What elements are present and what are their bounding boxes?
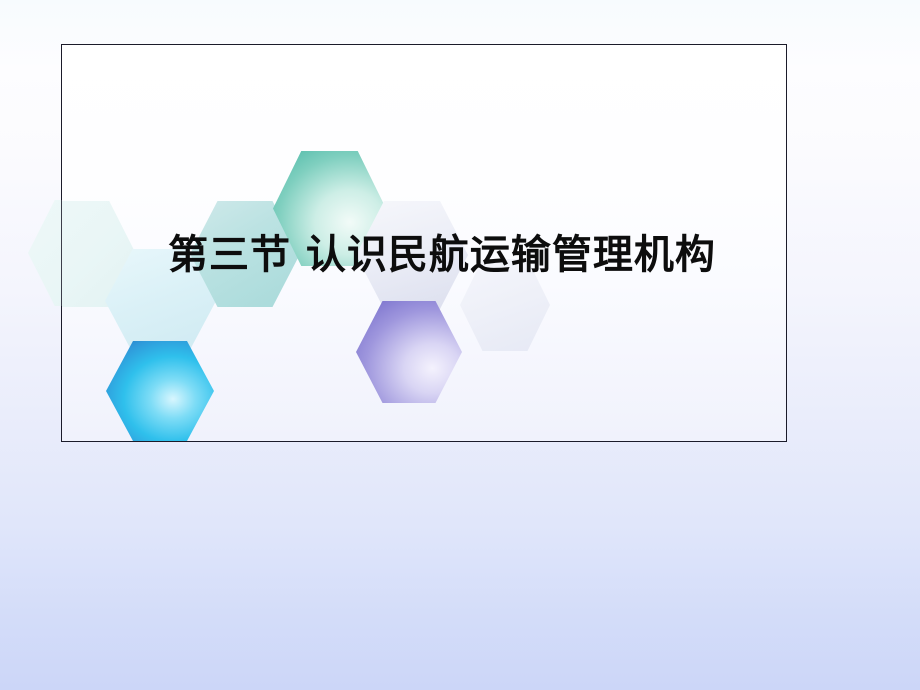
slide-title: 第三节 认识民航运输管理机构: [168, 229, 787, 281]
slide-frame: 第三节 认识民航运输管理机构: [61, 44, 787, 442]
hexagon-blue-bright: [106, 341, 214, 441]
presentation-page: 第三节 认识民航运输管理机构: [0, 0, 920, 690]
hexagon-purple: [356, 301, 462, 403]
